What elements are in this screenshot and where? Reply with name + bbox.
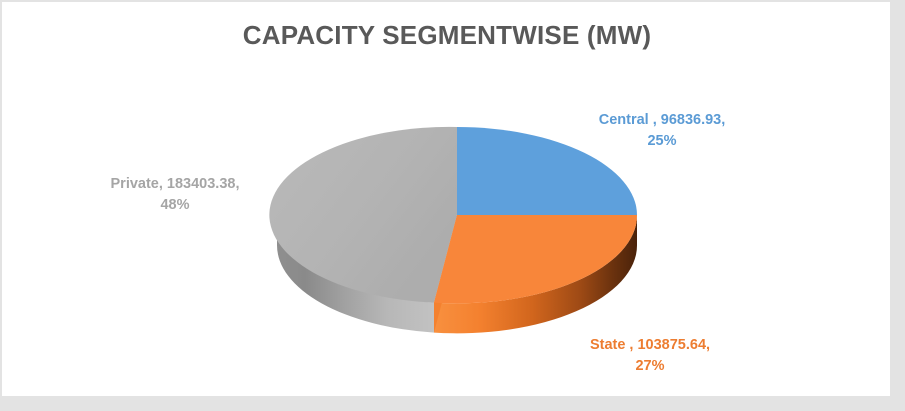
pie-label-state-percent: 27% bbox=[550, 356, 750, 377]
pie-label-private: Private, 183403.38, 48% bbox=[70, 174, 280, 216]
pie-label-state-value: State , 103875.64, bbox=[550, 335, 750, 356]
pie-label-central: Central , 96836.93, 25% bbox=[562, 110, 762, 152]
pie-label-central-percent: 25% bbox=[562, 131, 762, 152]
pie-label-private-percent: 48% bbox=[70, 195, 280, 216]
chart-frame: CAPACITY SEGMENTWISE (MW) bbox=[0, 0, 905, 411]
chart-plot-area[interactable]: CAPACITY SEGMENTWISE (MW) bbox=[2, 2, 892, 398]
pie-label-state: State , 103875.64, 27% bbox=[550, 335, 750, 377]
pie-label-private-value: Private, 183403.38, bbox=[70, 174, 280, 195]
pie-label-central-value: Central , 96836.93, bbox=[562, 110, 762, 131]
